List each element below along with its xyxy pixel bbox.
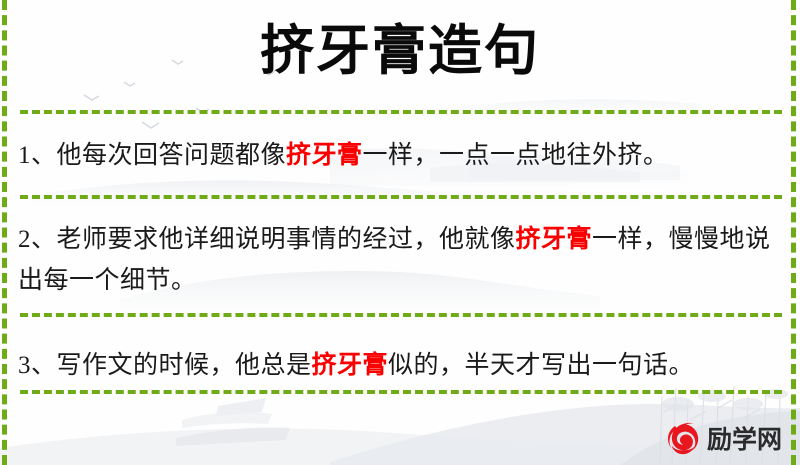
red-flame-spiral-logo-icon (663, 419, 703, 459)
worksheet-page: 挤牙膏造句 1、他每次回答问题都像挤牙膏一样，一点一点地往外挤。 2、老师要求他… (0, 0, 800, 465)
sentence-1-text-before: 他每次回答问题都像 (57, 142, 287, 169)
separator-3 (20, 313, 782, 317)
sentence-item-1: 1、他每次回答问题都像挤牙膏一样，一点一点地往外挤。 (18, 135, 782, 176)
separator-4 (20, 390, 782, 394)
sentence-1-index: 1、 (18, 142, 57, 169)
right-dashed-border (791, 0, 796, 465)
sentence-2-index: 2、 (18, 226, 57, 253)
sentence-1-text-after: 一样，一点一点地往外挤。 (363, 142, 669, 169)
site-watermark: 励学网 (663, 418, 782, 460)
sentence-3-text-before: 写作文的时候，他总是 (57, 352, 312, 379)
sentence-1-highlight-term: 挤牙膏 (286, 142, 363, 169)
sentence-2-text-before: 老师要求他详细说明事情的经过，他就像 (57, 226, 516, 253)
sentence-3-text-after: 似的，半天才写出一句话。 (388, 352, 694, 379)
sentence-3-index: 3、 (18, 352, 57, 379)
sentence-item-2: 2、老师要求他详细说明事情的经过，他就像挤牙膏一样，慢慢地说出每一个细节。 (18, 219, 782, 301)
separator-2 (20, 195, 782, 199)
separator-1 (20, 110, 782, 114)
page-title: 挤牙膏造句 (0, 22, 800, 79)
sentence-item-3: 3、写作文的时候，他总是挤牙膏似的，半天才写出一句话。 (18, 345, 782, 386)
left-dashed-border (2, 0, 7, 465)
sentence-3-highlight-term: 挤牙膏 (312, 352, 389, 379)
site-name-label: 励学网 (707, 427, 782, 452)
sentence-2-highlight-term: 挤牙膏 (516, 226, 593, 253)
